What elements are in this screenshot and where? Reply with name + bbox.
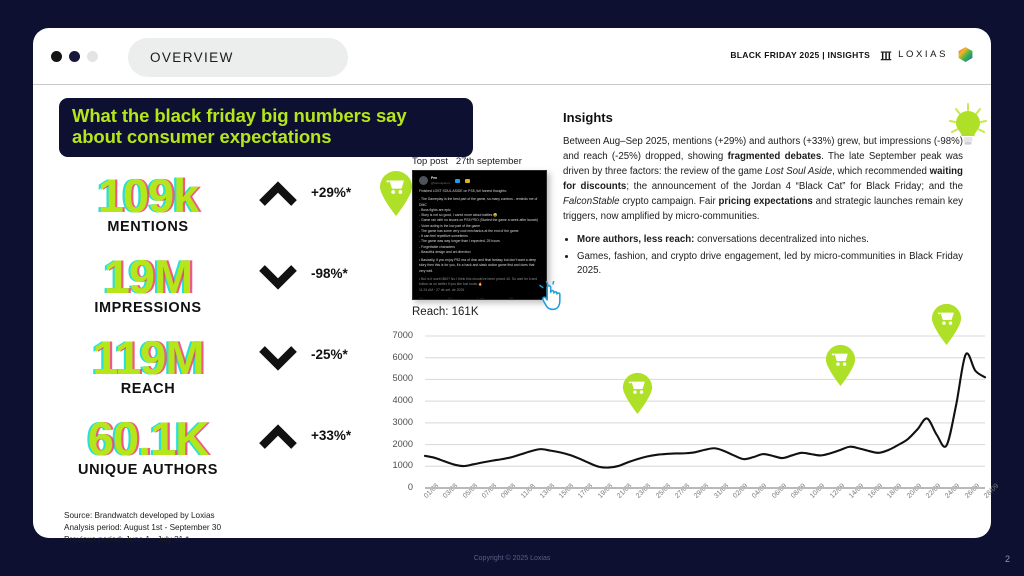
window-dot-3	[87, 51, 98, 62]
verified-badge-icon	[455, 179, 460, 183]
insights-paragraph: Between Aug–Sep 2025, mentions (+29%) an…	[563, 134, 963, 224]
lightbulb-icon	[945, 102, 991, 148]
post-line: • But is it worth $60? No I think this s…	[419, 277, 540, 288]
kpi-delta: +29%*	[311, 185, 351, 200]
insights-bullet: Games, fashion, and crypto drive engagem…	[577, 250, 963, 279]
kpi-row-reach: 119M REACH -25%*	[53, 335, 363, 416]
chart-plot-area	[373, 328, 993, 533]
kpi-label: REACH	[53, 381, 243, 397]
kpi-value: 109k	[53, 173, 243, 218]
insights-text: ; the announcement of the Jordan 4 “Blac…	[626, 181, 963, 192]
like-count[interactable]: 1 mil	[477, 297, 484, 300]
shopping-cart-pin-icon	[824, 344, 857, 386]
post-line: - The Gameplay is the best part of the g…	[419, 197, 540, 208]
repost-count[interactable]: 54	[448, 297, 452, 300]
chevron-down-icon	[258, 262, 298, 290]
post-author-name: Pen	[431, 176, 450, 180]
reply-count[interactable]: 34	[419, 297, 423, 300]
building-icon	[879, 48, 893, 62]
mentions-trend-chart: 01000200030004000500060007000 01/0803/08…	[373, 328, 993, 533]
chevron-up-icon	[258, 181, 298, 209]
shopping-cart-pin-icon	[378, 170, 414, 216]
post-timestamp: 11:24 AM · 27 de set. de 2025 ·	[419, 288, 540, 293]
chart-gridlines	[425, 336, 985, 488]
kpi-value: 119M	[53, 335, 243, 380]
kpi-row-unique-authors: 60.1K UNIQUE AUTHORS +33%*	[53, 416, 363, 497]
insights-emphasis: pricing expectations	[718, 196, 812, 207]
top-post-screenshot[interactable]: Pen @loremipsum Finished LOST SOUL ASIDE…	[412, 170, 547, 300]
window-dot-1	[51, 51, 62, 62]
kpi-value: 19M	[53, 254, 243, 299]
top-post-reach: Reach: 161K	[412, 306, 558, 318]
chart-line-series	[425, 353, 985, 467]
insights-title: Insights	[563, 110, 963, 125]
chevron-down-icon	[258, 343, 298, 371]
insights-italic: Lost Soul Aside	[765, 166, 832, 177]
post-author-handle: @loremipsum	[431, 181, 450, 185]
insights-text: , which recommended	[832, 166, 930, 177]
hand-pointer-cursor-icon	[538, 281, 568, 313]
header-right: BLACK FRIDAY 2025 | INSIGHTS LOXIAS	[730, 46, 974, 63]
kpi-row-impressions: 19M IMPRESSIONS -98%*	[53, 254, 363, 335]
post-line: - Game ran with no issues on PS5 PRO (St…	[419, 218, 540, 223]
shopping-cart-pin-icon	[621, 372, 654, 414]
slide-root: OVERVIEW BLACK FRIDAY 2025 | INSIGHTS LO…	[0, 0, 1024, 576]
kpi-label: IMPRESSIONS	[53, 300, 243, 316]
kpi-label: MENTIONS	[53, 219, 243, 235]
window-dot-2	[69, 51, 80, 62]
top-post-block: Top post 27th september Pen	[378, 156, 558, 318]
top-post-label: Top post	[412, 156, 448, 167]
source-note: Source: Brandwatch developed by Loxias A…	[64, 510, 221, 546]
brand-name: LOXIAS	[898, 49, 948, 60]
kpi-delta: +33%*	[311, 428, 351, 443]
bookmark-count[interactable]: 99	[509, 297, 513, 300]
post-action-bar[interactable]: 34 54 1 mil 99 ↑	[419, 297, 540, 300]
top-post-header: Top post 27th september	[412, 156, 558, 167]
source-line-1: Source: Brandwatch developed by Loxias	[64, 510, 221, 522]
kpi-delta: -25%*	[311, 347, 348, 362]
post-author-row: Pen @loremipsum	[419, 176, 540, 185]
insights-bullet-text: Games, fashion, and crypto drive engagem…	[577, 251, 963, 277]
source-line-3: Previous period: June 1 - July 31.*	[64, 534, 221, 546]
post-author-names: Pen @loremipsum	[431, 176, 450, 185]
window-dots	[51, 51, 98, 62]
insights-bullet-text: conversations decentralized into niches.	[694, 234, 868, 245]
insights-bullet-list: More authors, less reach: conversations …	[577, 233, 963, 279]
post-line: • Basically, if you enjoy P52 era of dmc…	[419, 258, 540, 274]
gold-badge-icon	[465, 179, 470, 183]
page-number: 2	[1005, 554, 1010, 564]
brand-logo: LOXIAS	[879, 48, 948, 62]
kpi-row-mentions: 109k MENTIONS +29%*	[53, 173, 363, 254]
source-line-2: Analysis period: August 1st - September …	[64, 522, 221, 534]
hexagon-logo-icon	[957, 46, 974, 63]
page-title: What the black friday big numbers say ab…	[59, 98, 473, 157]
kpi-value: 60.1K	[53, 416, 243, 461]
footer-copyright: Copyright © 2025 Loxias	[0, 555, 1024, 562]
insights-panel: Insights Between Aug–Sep 2025, mentions …	[563, 110, 963, 281]
kpi-text-block: 60.1K UNIQUE AUTHORS	[53, 416, 243, 478]
slide-card: OVERVIEW BLACK FRIDAY 2025 | INSIGHTS LO…	[33, 28, 991, 538]
kpi-text-block: 109k MENTIONS	[53, 173, 243, 235]
insights-italic: FalconStable	[563, 196, 620, 207]
insights-text: crypto campaign. Fair	[620, 196, 719, 207]
kpi-text-block: 119M REACH	[53, 335, 243, 397]
top-post-date: 27th september	[456, 156, 522, 167]
tab-overview-label: OVERVIEW	[150, 50, 234, 65]
avatar	[419, 176, 428, 185]
insights-bullet-lead: More authors, less reach:	[577, 234, 694, 245]
header-bar: OVERVIEW BLACK FRIDAY 2025 | INSIGHTS LO…	[33, 28, 991, 85]
tab-overview[interactable]: OVERVIEW	[128, 38, 348, 77]
kpi-list: 109k MENTIONS +29%* 19M IMPRESSIONS -98%…	[53, 173, 363, 497]
kpi-delta: -98%*	[311, 266, 348, 281]
shopping-cart-pin-icon	[930, 303, 963, 345]
insights-emphasis: fragmented debates	[728, 151, 822, 162]
chevron-up-icon	[258, 424, 298, 452]
insights-bullet: More authors, less reach: conversations …	[577, 233, 963, 248]
kpi-text-block: 19M IMPRESSIONS	[53, 254, 243, 316]
breadcrumb: BLACK FRIDAY 2025 | INSIGHTS	[730, 50, 870, 60]
kpi-label: UNIQUE AUTHORS	[53, 462, 243, 478]
